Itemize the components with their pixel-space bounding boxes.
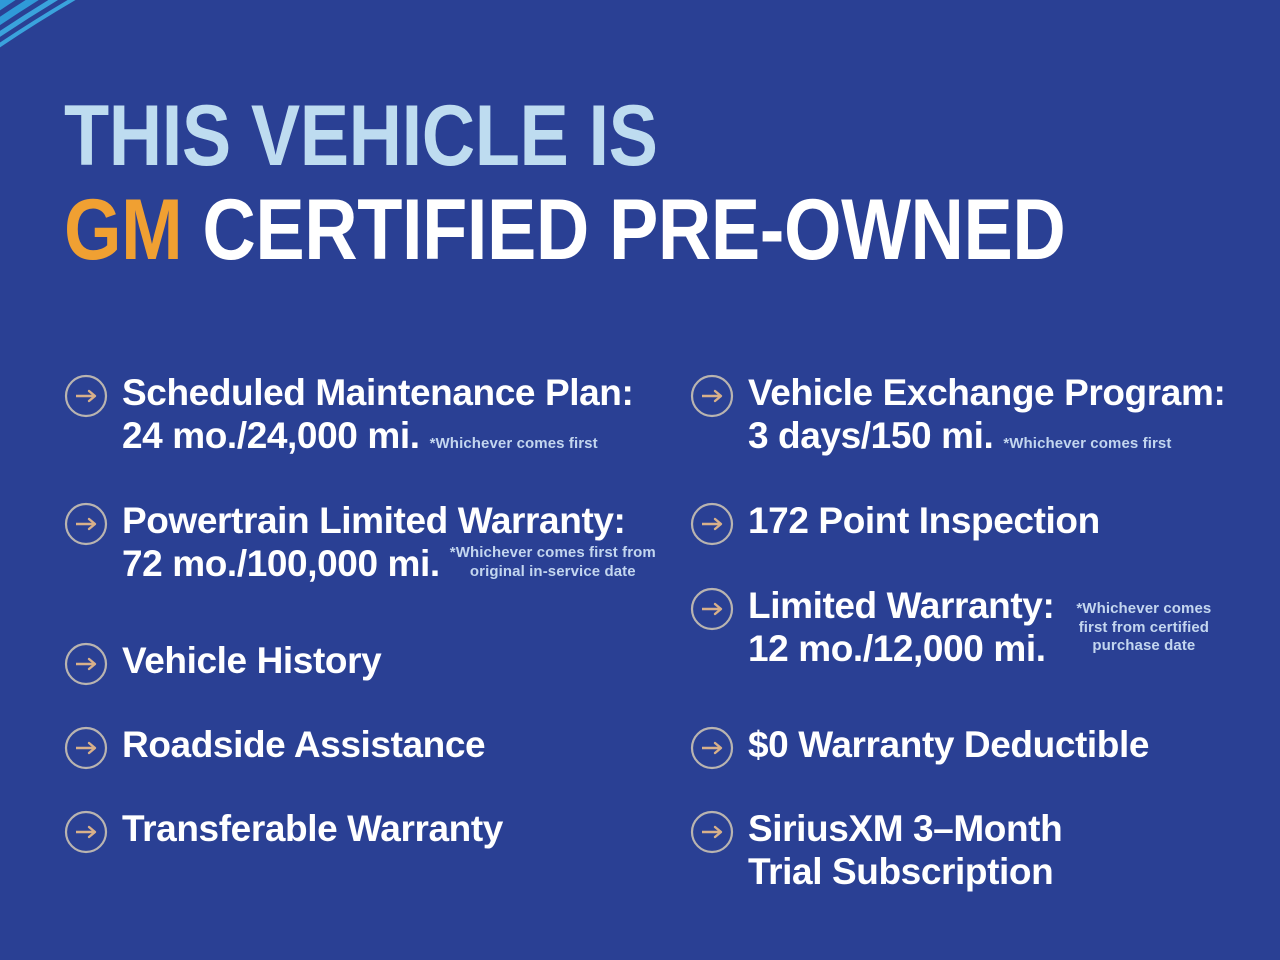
feature-line: Roadside Assistance — [122, 724, 485, 767]
feature-item: Roadside Assistance — [64, 724, 485, 770]
feature-line: Scheduled Maintenance Plan: — [122, 372, 633, 415]
circle-arrow-right-icon — [690, 726, 734, 770]
feature-body: $0 Warranty Deductible — [748, 724, 1149, 767]
feature-line: Powertrain Limited Warranty: — [122, 500, 656, 543]
feature-body: Powertrain Limited Warranty: 72 mo./100,… — [122, 500, 656, 586]
feature-body: Vehicle History — [122, 640, 381, 683]
feature-line: Vehicle History — [122, 640, 381, 683]
feature-body: SiriusXM 3–Month Trial Subscription — [748, 808, 1062, 894]
feature-body: Roadside Assistance — [122, 724, 485, 767]
feature-line: 172 Point Inspection — [748, 500, 1100, 543]
feature-item: Limited Warranty: 12 mo./12,000 mi. *Whi… — [690, 585, 1211, 671]
footnote-line: *Whichever comes first from — [450, 544, 656, 561]
footnote: *Whichever comes first — [1003, 435, 1171, 453]
headline-line-2-rest: CERTIFIED PRE-OWNED — [182, 182, 1065, 278]
circle-arrow-right-icon — [64, 810, 108, 854]
feature-line: 12 mo./12,000 mi. — [748, 628, 1054, 671]
feature-line-with-footnote: 3 days/150 mi. *Whichever comes first — [748, 415, 1225, 458]
footnote: *Whichever comes first from original in-… — [450, 544, 656, 581]
feature-item: 172 Point Inspection — [690, 500, 1100, 546]
headline: THIS VEHICLE IS GM CERTIFIED PRE-OWNED — [64, 96, 1214, 271]
feature-line-with-footnote: 24 mo./24,000 mi. *Whichever comes first — [122, 415, 633, 458]
headline-line-1: THIS VEHICLE IS — [64, 96, 1053, 178]
feature-body: Scheduled Maintenance Plan: 24 mo./24,00… — [122, 372, 633, 458]
feature-line: 72 mo./100,000 mi. — [122, 543, 440, 586]
feature-columns: Scheduled Maintenance Plan: 24 mo./24,00… — [0, 372, 1280, 912]
feature-line: Limited Warranty: — [748, 585, 1054, 628]
circle-arrow-right-icon — [690, 587, 734, 631]
feature-item: Powertrain Limited Warranty: 72 mo./100,… — [64, 500, 656, 586]
circle-arrow-right-icon — [64, 726, 108, 770]
feature-item: $0 Warranty Deductible — [690, 724, 1149, 770]
feature-text-stack: Limited Warranty: 12 mo./12,000 mi. — [748, 585, 1054, 671]
circle-arrow-right-icon — [690, 374, 734, 418]
footnote-line: *Whichever comes — [1076, 600, 1211, 617]
feature-line: 24 mo./24,000 mi. — [122, 415, 420, 458]
circle-arrow-right-icon — [64, 374, 108, 418]
feature-line: Trial Subscription — [748, 851, 1062, 894]
footnote-line: purchase date — [1092, 637, 1195, 654]
feature-item: Vehicle Exchange Program: 3 days/150 mi.… — [690, 372, 1225, 458]
headline-line-2: GM CERTIFIED PRE-OWNED — [64, 190, 1053, 272]
feature-lines-with-footnote: Limited Warranty: 12 mo./12,000 mi. *Whi… — [748, 585, 1211, 671]
circle-arrow-right-icon — [690, 502, 734, 546]
circle-arrow-right-icon — [64, 642, 108, 686]
feature-body: Limited Warranty: 12 mo./12,000 mi. *Whi… — [748, 585, 1211, 671]
feature-item: Scheduled Maintenance Plan: 24 mo./24,00… — [64, 372, 633, 458]
feature-item: Vehicle History — [64, 640, 381, 686]
circle-arrow-right-icon — [64, 502, 108, 546]
feature-line: Transferable Warranty — [122, 808, 503, 851]
gm-wordmark: GM — [64, 182, 182, 278]
feature-item: SiriusXM 3–Month Trial Subscription — [690, 808, 1062, 894]
feature-body: Vehicle Exchange Program: 3 days/150 mi.… — [748, 372, 1225, 458]
gm-certified-pre-owned-graphic: THIS VEHICLE IS GM CERTIFIED PRE-OWNED S… — [0, 0, 1280, 960]
footnote-line: original in-service date — [470, 563, 636, 580]
feature-body: 172 Point Inspection — [748, 500, 1100, 543]
feature-line: Vehicle Exchange Program: — [748, 372, 1225, 415]
footnote: *Whichever comes first from certified pu… — [1076, 600, 1211, 655]
feature-line: 3 days/150 mi. — [748, 415, 993, 458]
footnote-line: first from certified — [1079, 619, 1209, 636]
feature-line: $0 Warranty Deductible — [748, 724, 1149, 767]
feature-body: Transferable Warranty — [122, 808, 503, 851]
circle-arrow-right-icon — [690, 810, 734, 854]
feature-line: SiriusXM 3–Month — [748, 808, 1062, 851]
footnote: *Whichever comes first — [430, 435, 598, 453]
feature-line-with-footnote: 72 mo./100,000 mi. *Whichever comes firs… — [122, 543, 656, 586]
feature-item: Transferable Warranty — [64, 808, 503, 854]
